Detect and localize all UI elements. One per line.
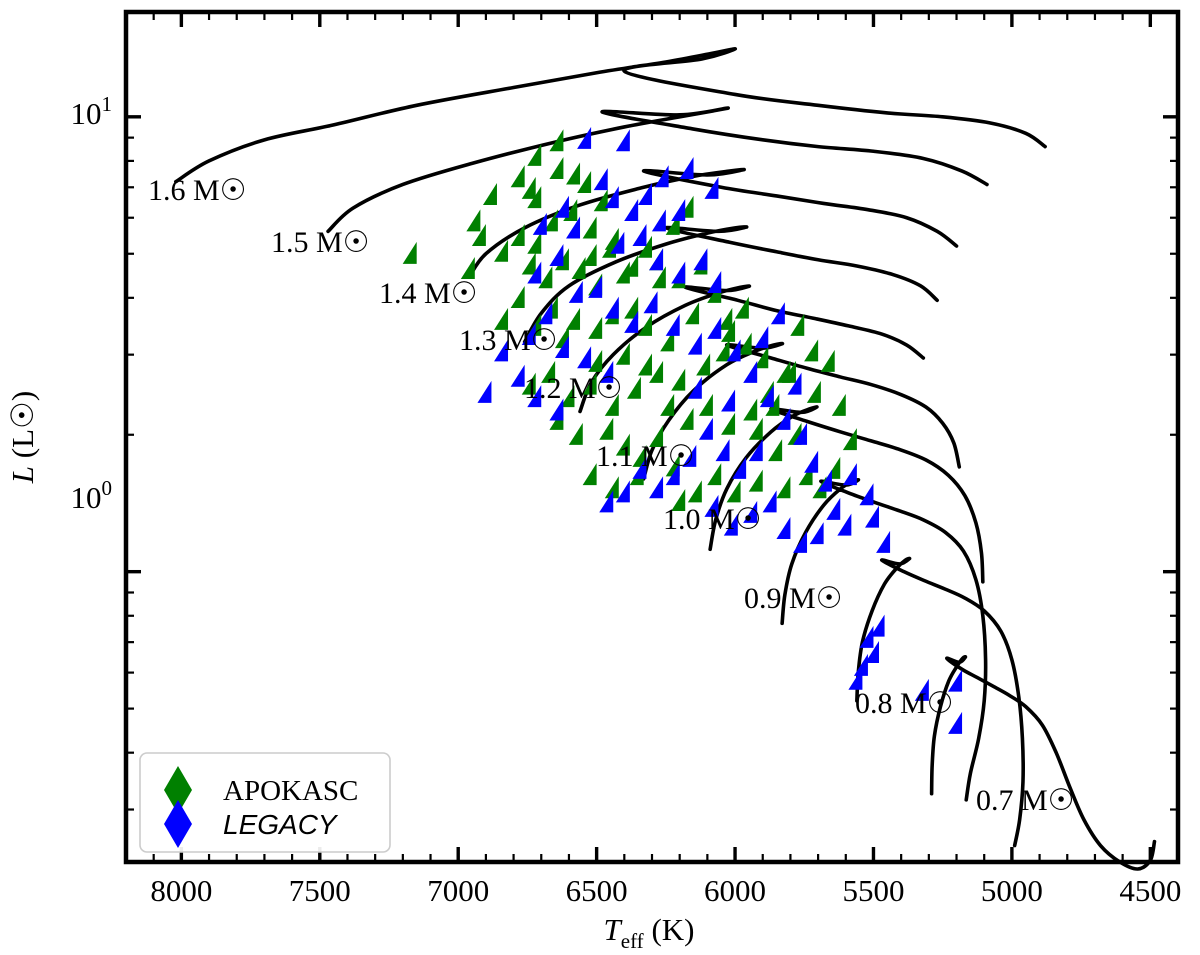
hr-diagram-svg: 80007500700065006000550050004500 100 101… (0, 0, 1200, 955)
y-tick-label-1e1: 101 (71, 92, 113, 131)
mass-label: 1.4 M☉ (379, 277, 478, 310)
x-tick-label: 5000 (981, 873, 1043, 908)
x-tick-label: 6000 (704, 873, 766, 908)
mass-label: 0.7 M☉ (976, 784, 1075, 817)
x-tick-label: 7000 (427, 873, 489, 908)
x-tick-label: 6500 (566, 873, 628, 908)
plot-background (126, 12, 1178, 862)
mass-label: 1.2 M☉ (524, 372, 623, 405)
x-tick-label: 4500 (1119, 873, 1181, 908)
x-axis-tick-labels: 80007500700065006000550050004500 (150, 873, 1181, 908)
legend-label-apokasc: APOKASC (223, 775, 358, 807)
x-tick-label: 5500 (842, 873, 904, 908)
mass-label: 1.0 M☉ (663, 503, 762, 536)
mass-label: 1.5 M☉ (271, 226, 370, 259)
hr-diagram-figure: 80007500700065006000550050004500 100 101… (0, 0, 1200, 955)
mass-label: 0.9 M☉ (744, 582, 843, 615)
legend: APOKASC LEGACY (140, 753, 390, 852)
legend-label-legacy: LEGACY (223, 809, 339, 840)
mass-label: 0.8 M☉ (855, 687, 954, 720)
mass-label: 1.6 M☉ (148, 174, 247, 207)
y-axis-title: L (L☉) (5, 391, 40, 484)
x-tick-label: 8000 (150, 873, 212, 908)
y-tick-label-1e0: 100 (71, 476, 113, 515)
x-axis-title: Teff (K) (604, 912, 695, 953)
mass-label: 1.1 M☉ (596, 440, 695, 473)
mass-label: 1.3 M☉ (459, 324, 558, 357)
x-tick-label: 7500 (289, 873, 351, 908)
